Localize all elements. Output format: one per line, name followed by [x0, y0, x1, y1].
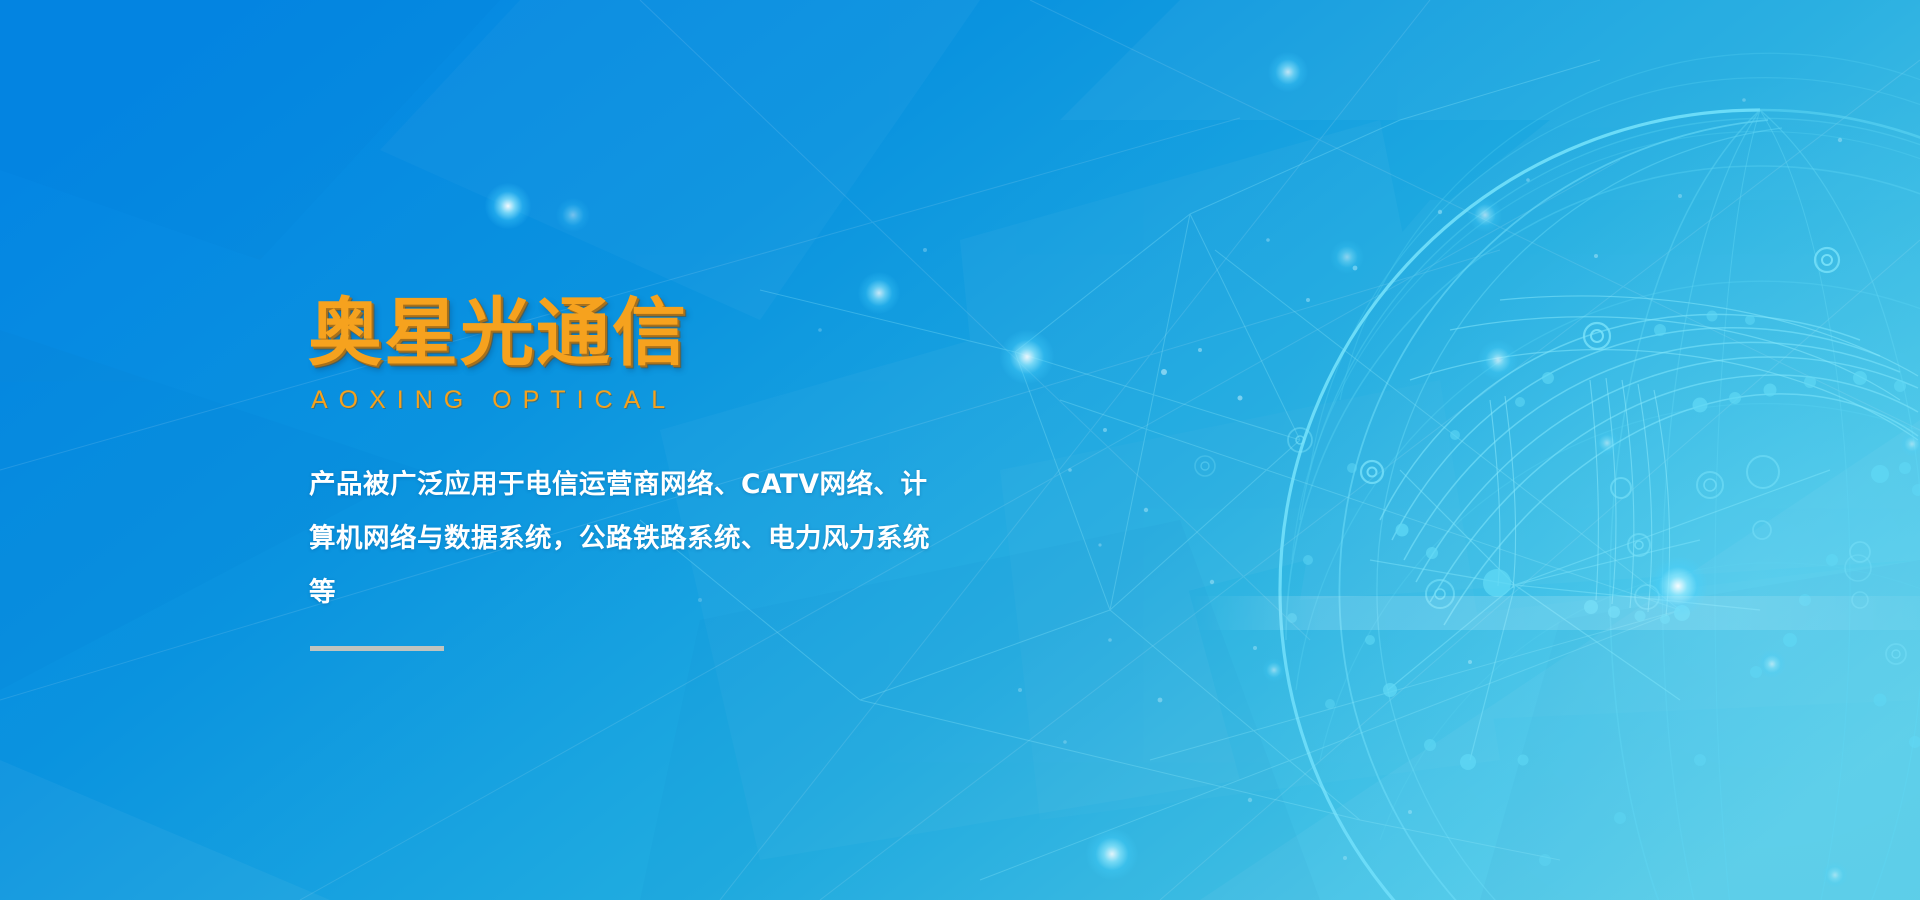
hero-banner: 奥星光通信 AOXING OPTICAL 产品被广泛应用于电信运营商网络、CAT… — [0, 0, 1920, 900]
glow-dot — [1086, 828, 1138, 880]
banner-content: 奥星光通信 AOXING OPTICAL 产品被广泛应用于电信运营商网络、CAT… — [308, 296, 1008, 651]
brand-title-en: AOXING OPTICAL — [311, 386, 1008, 415]
glow-dot — [1262, 658, 1286, 682]
glow-dot — [1594, 430, 1620, 456]
glow-dot — [1268, 52, 1308, 92]
banner-description: 产品被广泛应用于电信运营商网络、CATV网络、计算机网络与数据系统，公路铁路系统… — [309, 458, 934, 620]
glow-dot — [1000, 330, 1054, 384]
glow-dot — [1900, 432, 1920, 456]
glow-dot — [1330, 240, 1364, 274]
glow-dot — [485, 183, 531, 229]
glow-dot — [1468, 198, 1502, 232]
light-band-overlay — [1190, 596, 1920, 630]
glow-dot — [1758, 650, 1786, 678]
glow-dot — [556, 198, 590, 232]
glow-dot — [1478, 340, 1518, 380]
glow-dot — [1822, 862, 1848, 888]
brand-title-cn: 奥星光通信 — [308, 296, 1008, 370]
accent-divider — [310, 646, 444, 651]
